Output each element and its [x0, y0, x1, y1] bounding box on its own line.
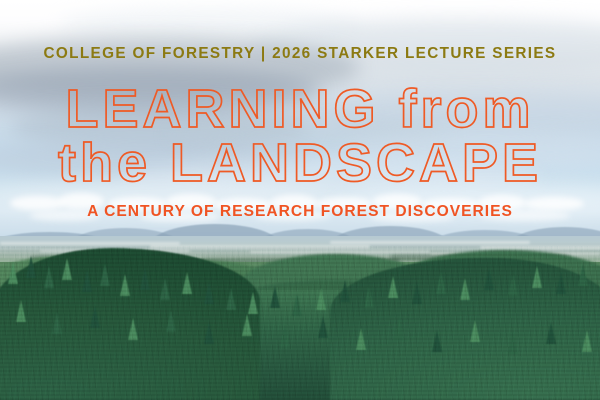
- poster-title-line-1: LEARNING from: [0, 82, 600, 136]
- poster-subhead: A CENTURY OF RESEARCH FOREST DISCOVERIES: [0, 203, 600, 221]
- lecture-series-poster: COLLEGE OF FORESTRY | 2026 STARKER LECTU…: [0, 0, 600, 400]
- poster-kicker: COLLEGE OF FORESTRY | 2026 STARKER LECTU…: [0, 45, 600, 63]
- poster-text-layer: COLLEGE OF FORESTRY | 2026 STARKER LECTU…: [0, 0, 600, 400]
- poster-title-line-2: the LANDSCAPE: [0, 136, 600, 190]
